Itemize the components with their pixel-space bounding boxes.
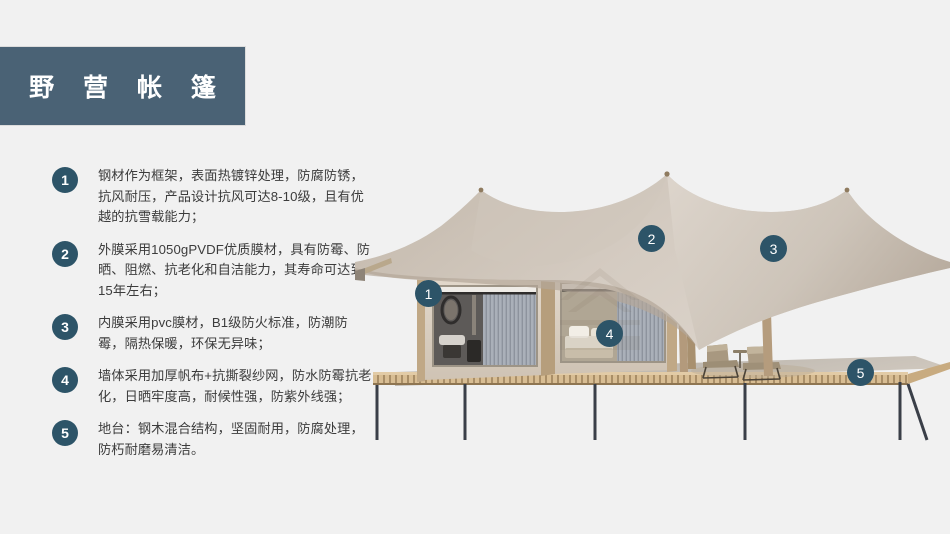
- list-item: 3 内膜采用pvc膜材，B1级防火标准，防潮防霉，隔热保暖，环保无异味；: [52, 313, 372, 354]
- feature-badge-2: 2: [52, 241, 78, 267]
- list-item: 4 墙体采用加厚帆布+抗撕裂纱网，防水防霉抗老化，日晒牢度高，耐候性强，防紫外线…: [52, 366, 372, 407]
- interior-bathroom: [433, 288, 483, 366]
- feature-text-3: 内膜采用pvc膜材，B1级防火标准，防潮防霉，隔热保暖，环保无异味；: [98, 313, 372, 354]
- callout-marker-5[interactable]: 5: [847, 359, 874, 386]
- list-item: 5 地台：钢木混合结构，坚固耐用，防腐处理，防朽耐磨易清洁。: [52, 419, 372, 460]
- callout-marker-1[interactable]: 1: [415, 280, 442, 307]
- feature-text-4: 墙体采用加厚帆布+抗撕裂纱网，防水防霉抗老化，日晒牢度高，耐候性强，防紫外线强；: [98, 366, 372, 407]
- callout-marker-2[interactable]: 2: [638, 225, 665, 252]
- slide-root: 野 营 帐 篷 1 钢材作为框架，表面热镀锌处理，防腐防锈，抗风耐压，产品设计抗…: [0, 0, 950, 534]
- feature-badge-1: 1: [52, 167, 78, 193]
- feature-list: 1 钢材作为框架，表面热镀锌处理，防腐防锈，抗风耐压，产品设计抗风可达8-10级…: [52, 166, 372, 472]
- feature-badge-4: 4: [52, 367, 78, 393]
- feature-badge-5: 5: [52, 420, 78, 446]
- feature-text-5: 地台：钢木混合结构，坚固耐用，防腐处理，防朽耐磨易清洁。: [98, 419, 372, 460]
- deck-leg-group: [377, 382, 900, 440]
- feature-badge-3: 3: [52, 314, 78, 340]
- list-item: 1 钢材作为框架，表面热镀锌处理，防腐防锈，抗风耐压，产品设计抗风可达8-10级…: [52, 166, 372, 228]
- title-banner: 野 营 帐 篷: [0, 46, 246, 126]
- tent-illustration: [355, 150, 950, 470]
- feature-text-1: 钢材作为框架，表面热镀锌处理，防腐防锈，抗风耐压，产品设计抗风可达8-10级，且…: [98, 166, 372, 228]
- tent-graphic: [355, 150, 950, 470]
- feature-text-2: 外膜采用1050gPVDF优质膜材，具有防霉、防晒、阻燃、抗老化和自洁能力，其寿…: [98, 240, 372, 302]
- list-item: 2 外膜采用1050gPVDF优质膜材，具有防霉、防晒、阻燃、抗老化和自洁能力，…: [52, 240, 372, 302]
- callout-marker-4[interactable]: 4: [596, 320, 623, 347]
- callout-marker-3[interactable]: 3: [760, 235, 787, 262]
- page-title: 野 营 帐 篷: [18, 68, 227, 104]
